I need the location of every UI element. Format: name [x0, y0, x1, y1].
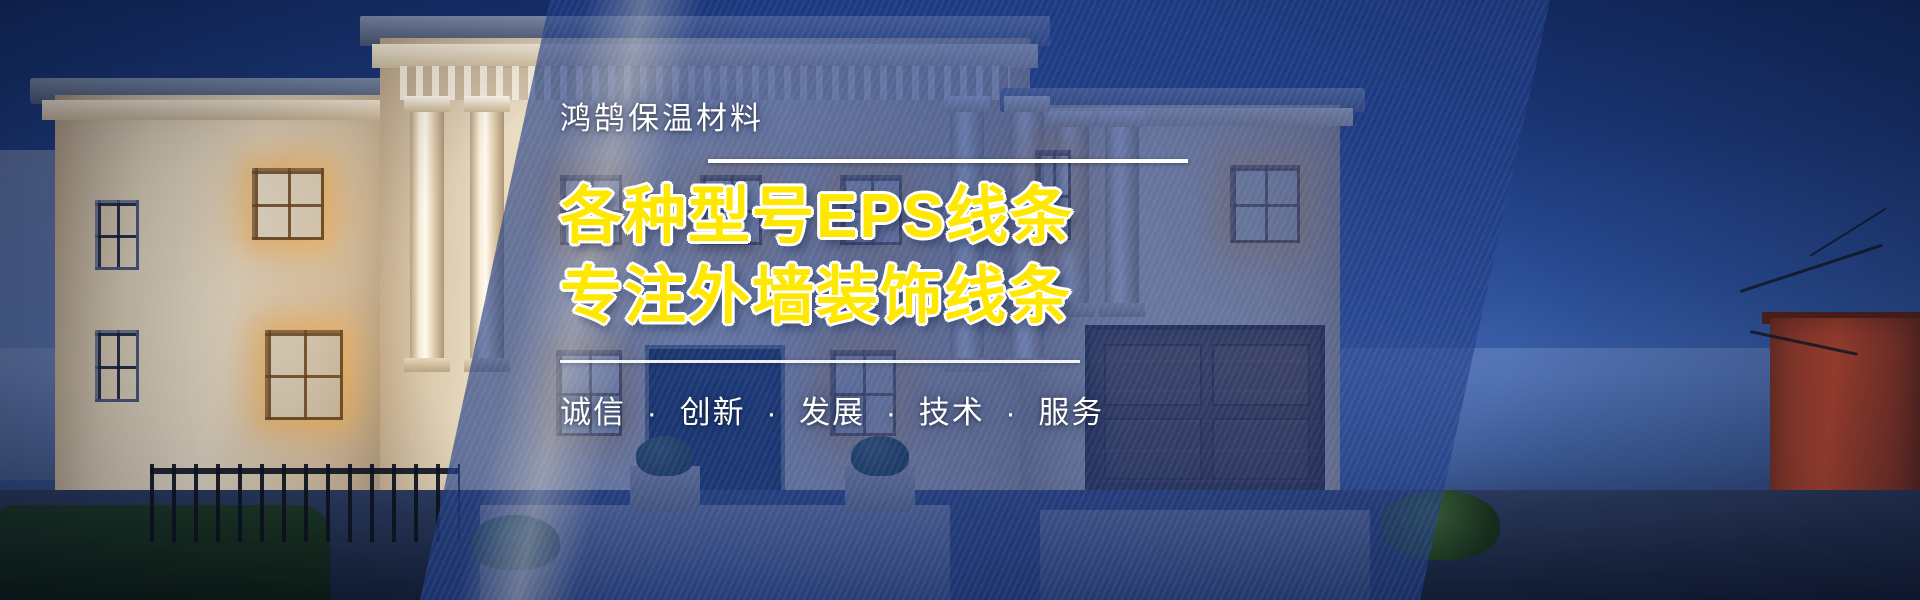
promo-banner: 鸿鹄保温材料 各种型号EPS线条 专注外墙装饰线条 诚信 · 创新 · 发展 ·… [0, 0, 1920, 600]
tagline-separator: · [886, 395, 898, 430]
tagline-item-4: 技术 [919, 395, 985, 430]
tagline-separator: · [1005, 395, 1017, 430]
tagline-separator: · [647, 395, 659, 430]
tagline-item-2: 创新 [680, 395, 746, 430]
banner-content: 鸿鹄保温材料 各种型号EPS线条 专注外墙装饰线条 诚信 · 创新 · 发展 ·… [560, 100, 1260, 432]
tagline: 诚信 · 创新 · 发展 · 技术 · 服务 [560, 387, 1260, 432]
headline-line-1: 各种型号EPS线条 [560, 177, 1260, 256]
tagline-separator: · [766, 395, 778, 430]
tagline-item-3: 发展 [799, 395, 865, 430]
divider-top [708, 159, 1188, 163]
tagline-item-1: 诚信 [560, 395, 626, 430]
tagline-item-5: 服务 [1038, 395, 1104, 430]
headline-line-2: 专注外墙装饰线条 [560, 257, 1260, 336]
divider-bottom [560, 360, 1080, 363]
brand-kicker: 鸿鹄保温材料 [560, 100, 1260, 137]
